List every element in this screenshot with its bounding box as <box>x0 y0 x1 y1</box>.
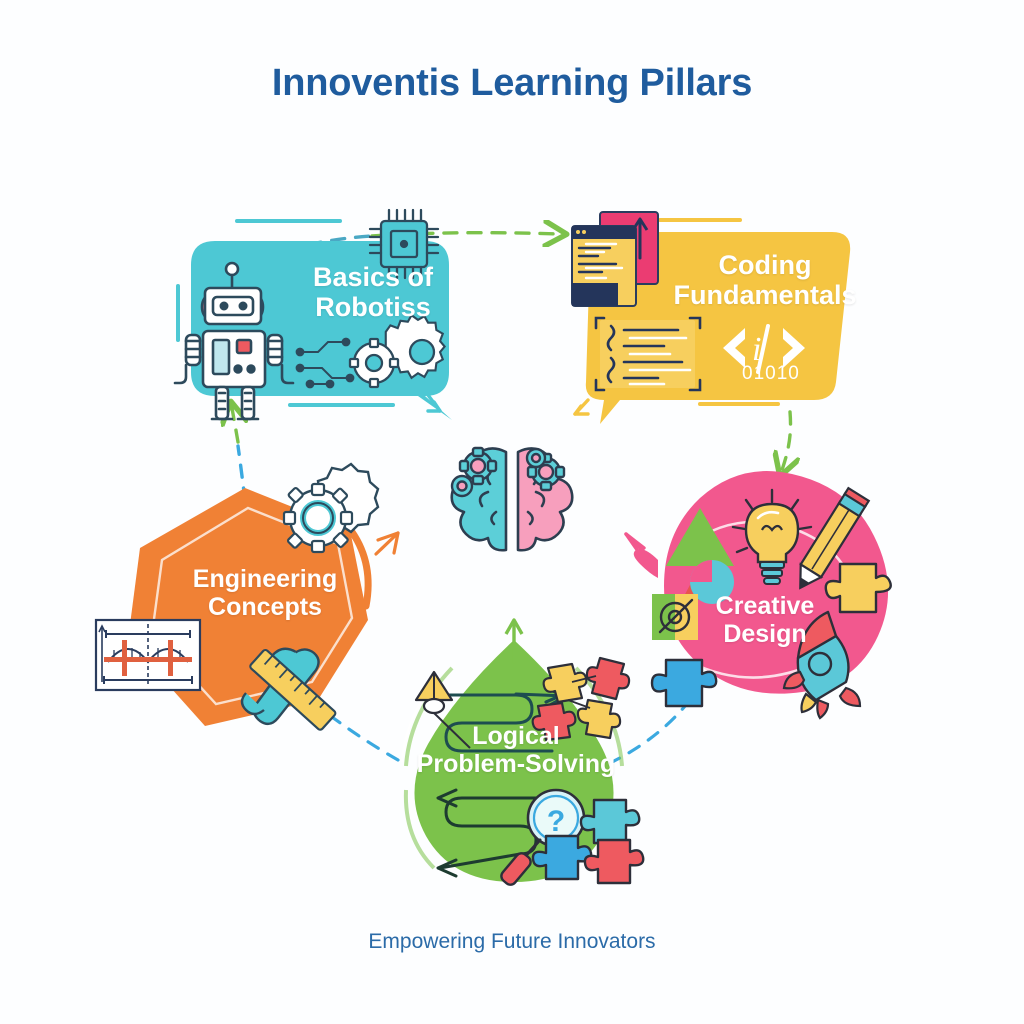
split-brain-icon <box>452 448 573 550</box>
bridge-blueprint-icon <box>96 620 200 690</box>
connector-engineering-to-robotics <box>232 408 245 500</box>
svg-text:?: ? <box>547 805 565 838</box>
compass-icon <box>652 594 698 640</box>
footer-tagline: Empowering Future Innovators <box>0 930 1024 954</box>
diagram-graphics: i <box>0 0 1024 1024</box>
binary-badge: 01010 <box>742 363 800 385</box>
code-snippet-icon <box>596 318 700 390</box>
gear-icon-engineering <box>284 464 378 552</box>
connector-creative-to-logical <box>612 700 690 762</box>
infographic-canvas: Innoventis Learning Pillars <box>0 0 1024 1024</box>
